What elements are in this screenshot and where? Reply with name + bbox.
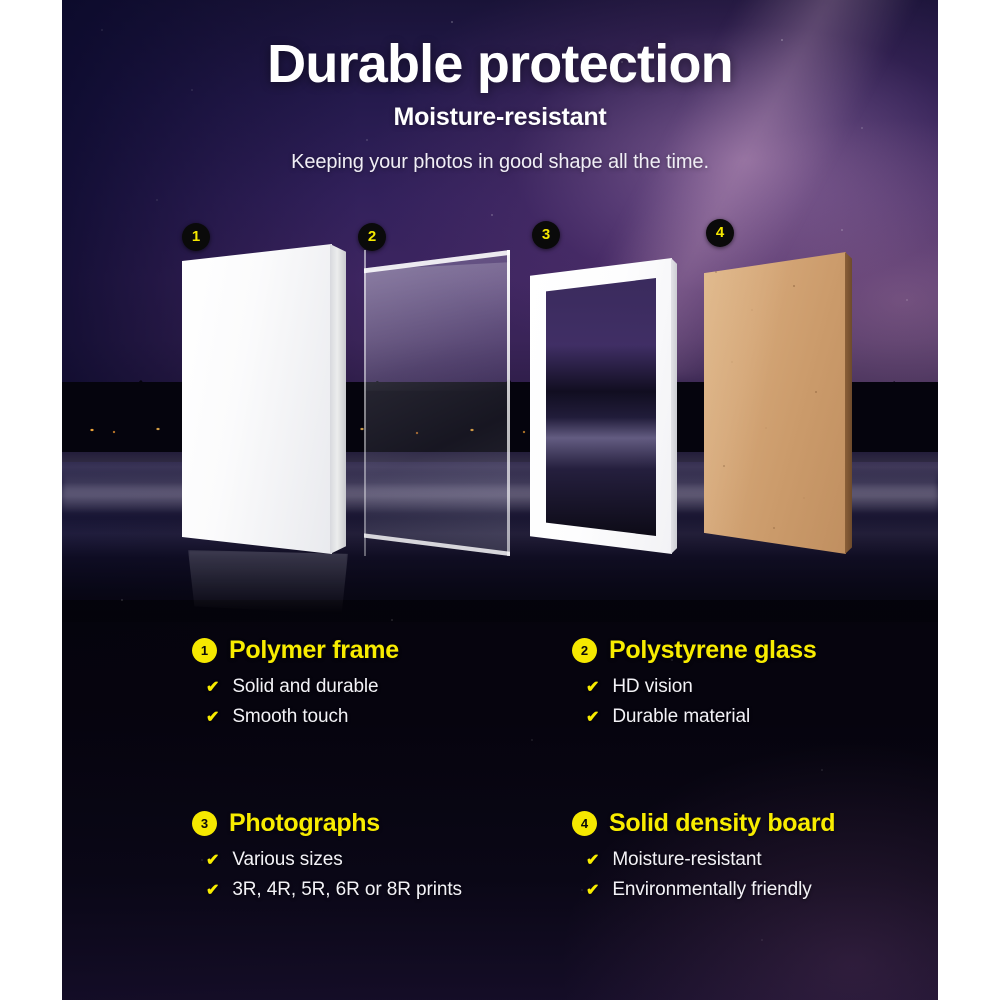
page-subtitle: Moisture-resistant	[62, 103, 938, 132]
frame-reflection	[188, 550, 348, 614]
feature-title-1: Polymer frame	[229, 636, 399, 665]
list-item: ✔ Environmentally friendly	[586, 879, 928, 901]
callout-badge-2: 2	[358, 223, 386, 251]
polystyrene-glass-illustration	[364, 250, 510, 556]
mat-cutout	[546, 278, 656, 536]
feature-badge-2: 2	[572, 638, 597, 663]
check-icon: ✔	[206, 883, 219, 899]
header: Durable protection Moisture-resistant Ke…	[62, 0, 938, 174]
feature-heading: 3 Photographs	[192, 809, 548, 838]
feature-grid: 1 Polymer frame ✔ Solid and durable ✔ Sm…	[62, 636, 938, 936]
feature-bullet-list: ✔ Solid and durable ✔ Smooth touch	[192, 676, 548, 728]
list-item: ✔ Durable material	[586, 706, 928, 728]
list-item: ✔ HD vision	[586, 676, 928, 698]
list-item-label: Moisture-resistant	[612, 849, 761, 871]
polymer-frame-illustration	[182, 244, 332, 554]
check-icon: ✔	[206, 710, 219, 726]
feature-heading: 2 Polystyrene glass	[572, 636, 928, 665]
check-icon: ✔	[206, 680, 219, 696]
list-item: ✔ 3R, 4R, 5R, 6R or 8R prints	[206, 879, 548, 901]
list-item: ✔ Moisture-resistant	[586, 849, 928, 871]
frame-front-face	[182, 244, 332, 554]
feature-bullet-list: ✔ HD vision ✔ Durable material	[572, 676, 928, 728]
list-item-label: Environmentally friendly	[612, 879, 811, 901]
feature-title-2: Polystyrene glass	[609, 636, 817, 665]
callout-badge-3: 3	[532, 221, 560, 249]
check-icon: ✔	[586, 883, 599, 899]
page-title: Durable protection	[62, 36, 938, 93]
feature-heading: 4 Solid density board	[572, 809, 928, 838]
feature-badge-3: 3	[192, 811, 217, 836]
feature-badge-4: 4	[572, 811, 597, 836]
list-item-label: Durable material	[612, 706, 750, 728]
page-description: Keeping your photos in good shape all th…	[62, 151, 938, 174]
feature-badge-1: 1	[192, 638, 217, 663]
frame-side-edge	[330, 244, 346, 554]
feature-polystyrene-glass: 2 Polystyrene glass ✔ HD vision ✔ Durabl…	[572, 636, 928, 763]
feature-title-4: Solid density board	[609, 809, 835, 838]
list-item-label: Smooth touch	[232, 706, 348, 728]
check-icon: ✔	[586, 710, 599, 726]
feature-polymer-frame: 1 Polymer frame ✔ Solid and durable ✔ Sm…	[192, 636, 548, 763]
list-item: ✔ Smooth touch	[206, 706, 548, 728]
glass-right-edge	[507, 250, 510, 556]
board-sheen	[704, 252, 846, 554]
list-item-label: 3R, 4R, 5R, 6R or 8R prints	[232, 879, 462, 901]
solid-density-board-illustration	[704, 252, 846, 554]
callout-badge-4: 4	[706, 219, 734, 247]
feature-heading: 1 Polymer frame	[192, 636, 548, 665]
feature-solid-density-board: 4 Solid density board ✔ Moisture-resista…	[572, 809, 928, 936]
check-icon: ✔	[206, 853, 219, 869]
glass-glare	[364, 262, 510, 391]
check-icon: ✔	[586, 853, 599, 869]
glass-left-edge	[364, 250, 366, 556]
mat-side-edge	[671, 258, 677, 554]
board-side-edge	[845, 252, 852, 554]
feature-photographs: 3 Photographs ✔ Various sizes ✔ 3R, 4R, …	[192, 809, 548, 936]
list-item: ✔ Various sizes	[206, 849, 548, 871]
list-item-label: Solid and durable	[232, 676, 378, 698]
product-infographic: Durable protection Moisture-resistant Ke…	[0, 0, 1000, 1000]
list-item-label: Various sizes	[232, 849, 342, 871]
check-icon: ✔	[586, 680, 599, 696]
feature-bullet-list: ✔ Moisture-resistant ✔ Environmentally f…	[572, 849, 928, 901]
photographs-mat-illustration	[530, 258, 672, 554]
list-item-label: HD vision	[612, 676, 692, 698]
feature-bullet-list: ✔ Various sizes ✔ 3R, 4R, 5R, 6R or 8R p…	[192, 849, 548, 901]
feature-title-3: Photographs	[229, 809, 380, 838]
list-item: ✔ Solid and durable	[206, 676, 548, 698]
